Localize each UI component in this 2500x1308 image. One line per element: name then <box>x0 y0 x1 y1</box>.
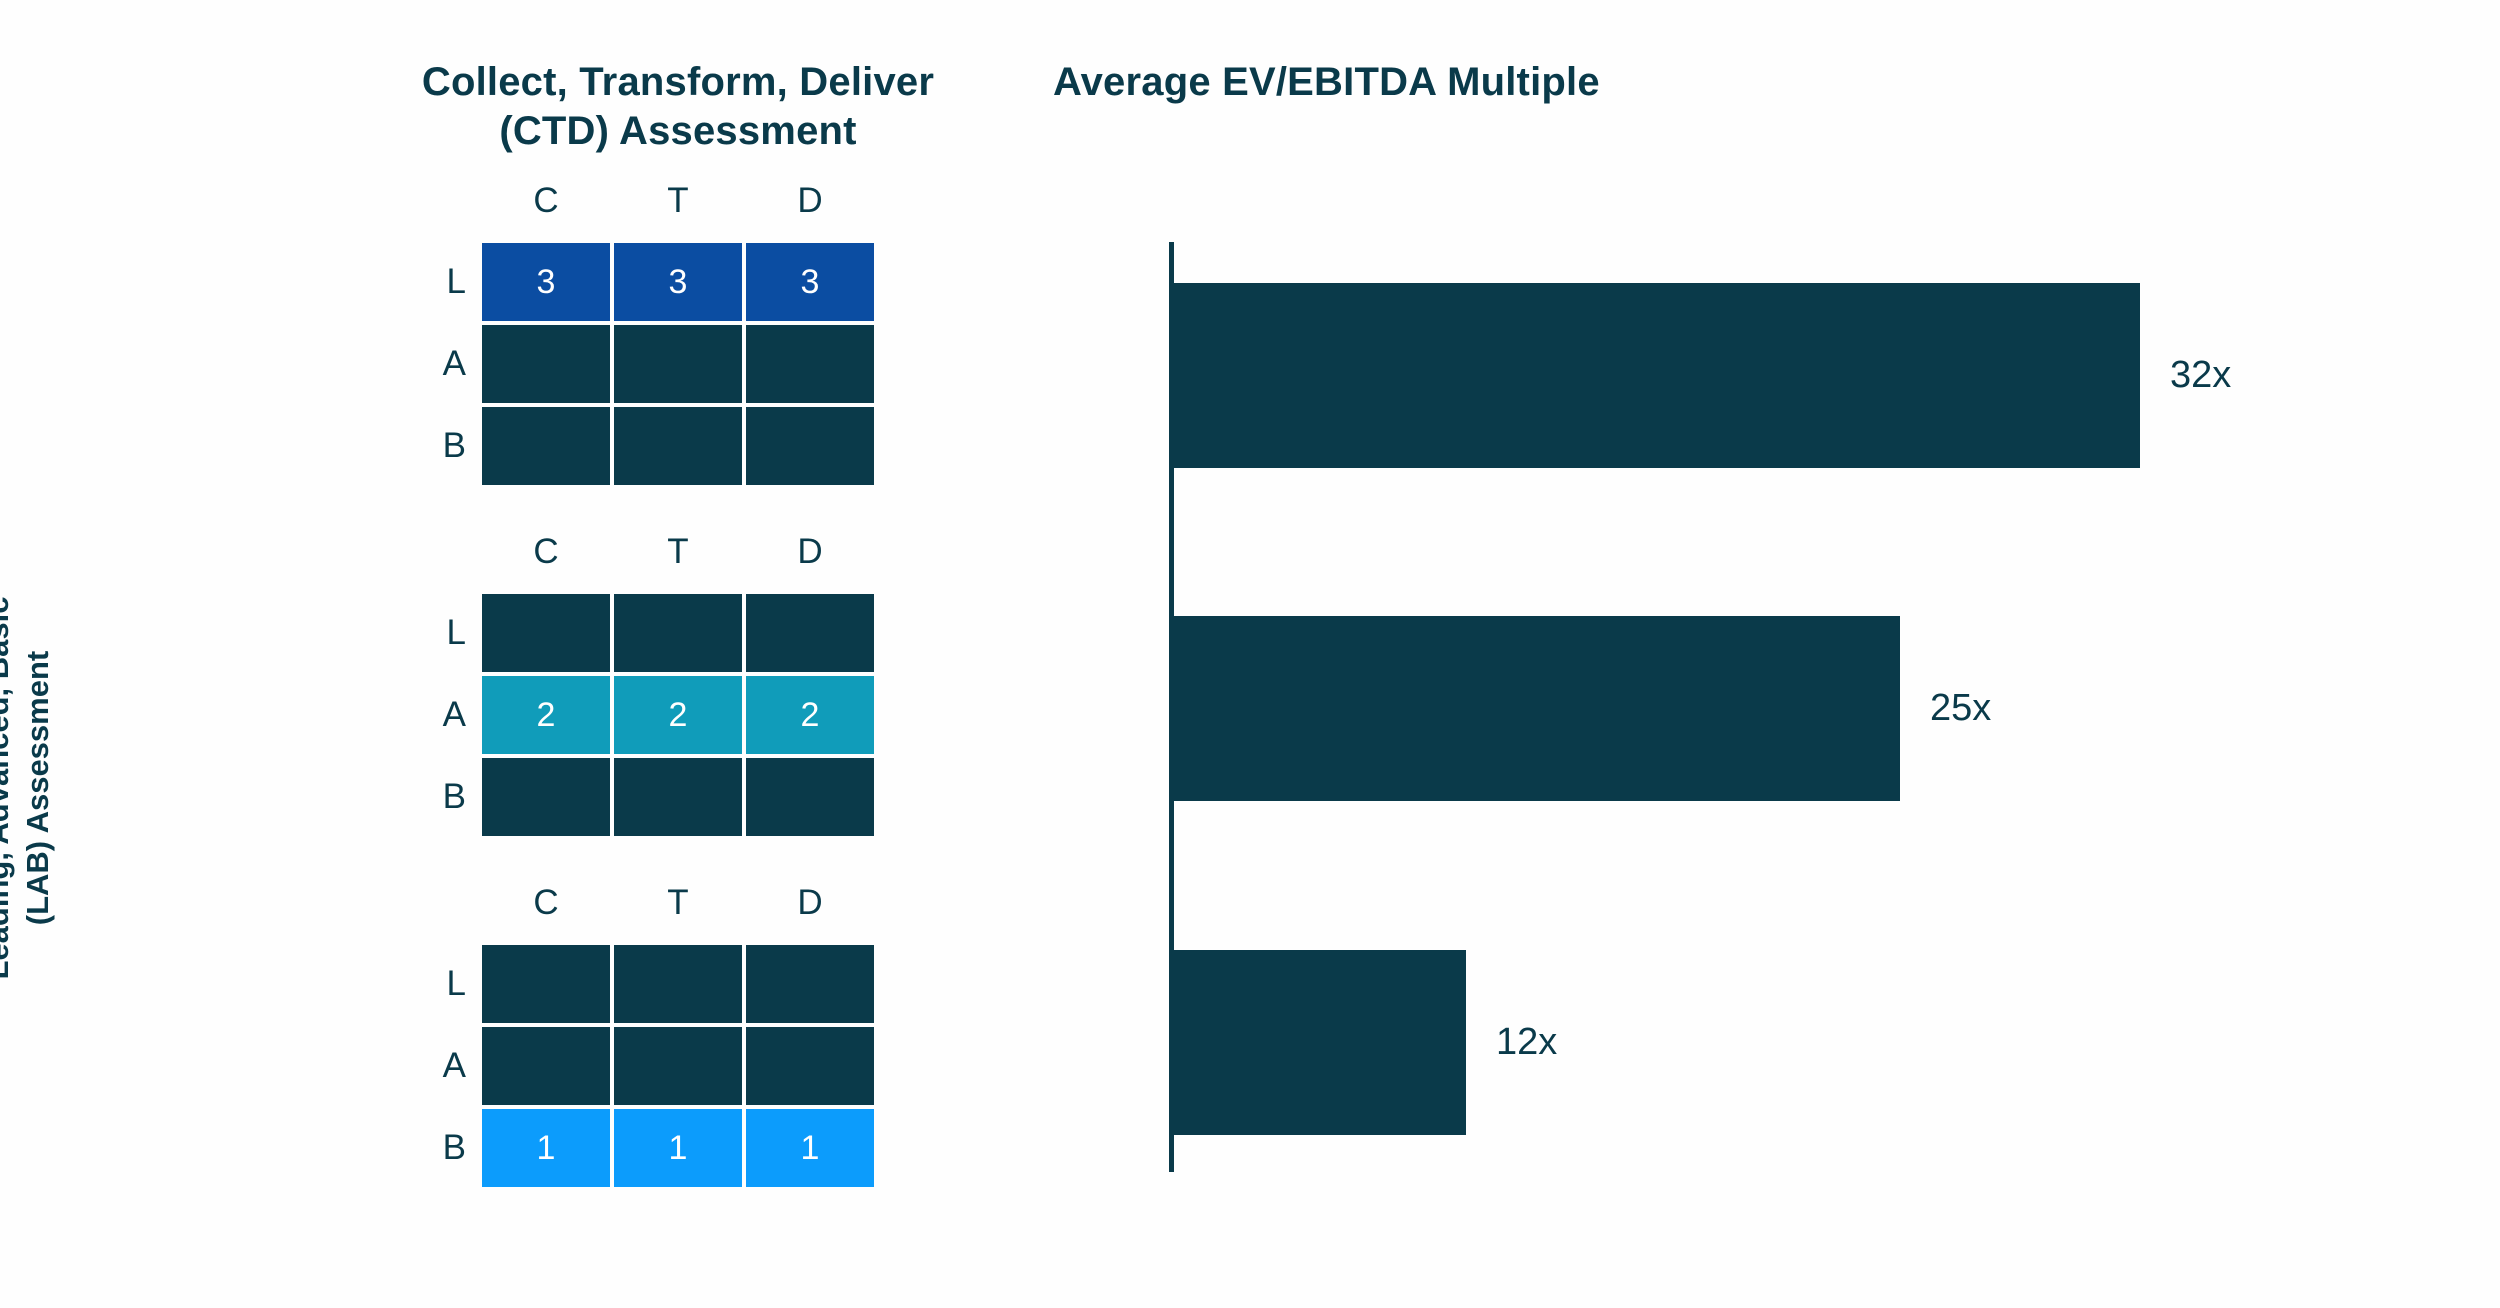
bar-value-label: 12x <box>1496 950 1557 1135</box>
bar-basic[interactable] <box>1174 950 1466 1135</box>
bar-leading[interactable] <box>1174 283 2140 468</box>
bar-value-label: 25x <box>1930 616 1991 801</box>
ev-ebitda-bar-chart: Leading 32x Advanced 25x Basic 12x <box>0 0 2500 1308</box>
infographic-canvas: Collect, Transform, Deliver (CTD) Assess… <box>0 0 2500 1308</box>
bar-advanced[interactable] <box>1174 616 1900 801</box>
bar-value-label: 32x <box>2170 283 2231 468</box>
